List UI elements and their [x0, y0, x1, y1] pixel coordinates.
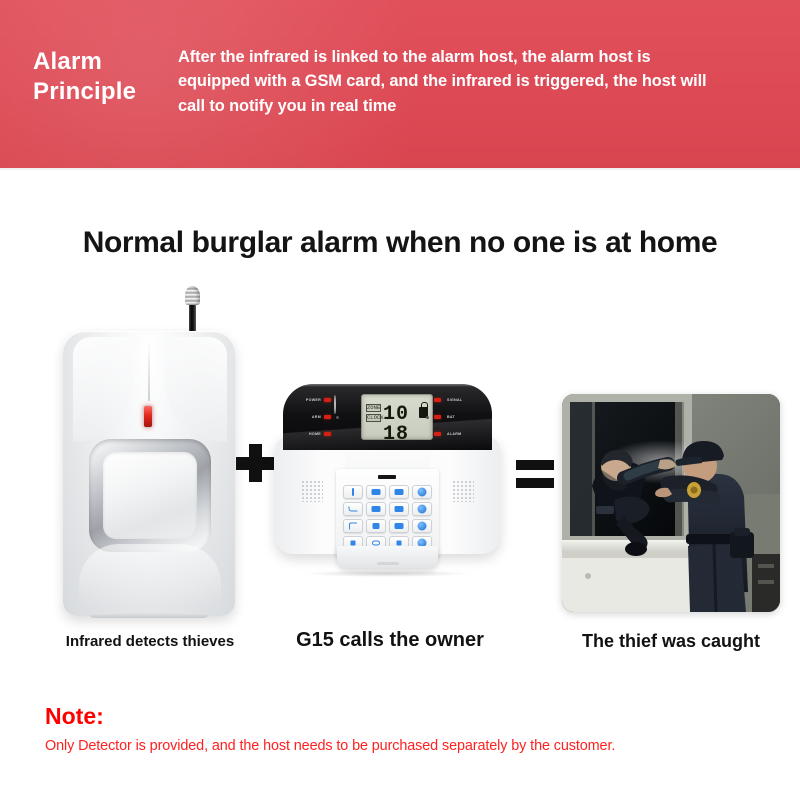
detector-crease [148, 339, 150, 401]
keypad-key[interactable] [366, 502, 386, 516]
note-title: Note: [45, 703, 104, 730]
detector-highlight-left [73, 337, 133, 442]
detector-foot [89, 613, 209, 618]
keypad-key[interactable] [389, 485, 409, 499]
banner-title: Alarm Principle [33, 47, 173, 107]
keypad-key[interactable] [389, 502, 409, 516]
keypad-key[interactable] [343, 485, 363, 499]
lcd-display: ZONE CLOCK 10 18 [361, 394, 433, 440]
keypad-key[interactable] [389, 519, 409, 533]
padlock-icon [334, 413, 341, 422]
keypad-key[interactable] [412, 519, 432, 533]
speaker-grille-right-icon [452, 480, 474, 502]
indicator-led [434, 432, 441, 435]
banner-divider [0, 168, 800, 170]
equals-bottom-bar [516, 478, 554, 488]
indicator-label: ARM [297, 415, 321, 419]
page-title: Normal burglar alarm when no one is at h… [0, 226, 800, 260]
indicator-home: HOME [297, 427, 355, 441]
indicator-label: HOME [297, 432, 321, 436]
plus-vertical-bar [249, 444, 262, 482]
caption-infrared-detects-thieves: Infrared detects thieves [25, 633, 275, 650]
indicator-label: POWER [297, 398, 321, 402]
detector-led-icon [143, 405, 153, 428]
house-icon [334, 430, 341, 439]
host-base [337, 546, 438, 568]
lcd-mini-label: CLOCK [366, 414, 381, 422]
indicator-label: BAT [447, 415, 455, 419]
lcd-mini-labels: ZONE CLOCK [366, 404, 381, 424]
indicator-alarm: ALARM [424, 427, 480, 441]
indicator-led [324, 398, 331, 401]
power-circle-icon [334, 396, 341, 405]
indicator-led [434, 415, 441, 418]
banner-description: After the infrared is linked to the alar… [178, 45, 718, 118]
host-top-panel: POWER ARM HOME ZONE CLOCK [283, 384, 492, 450]
detector-fresnel-lens [103, 452, 197, 539]
alarm-host-illustration: POWER ARM HOME ZONE CLOCK [275, 384, 500, 584]
signal-bar-icon [424, 396, 431, 405]
keypad-key[interactable] [412, 502, 432, 516]
keypad-grid[interactable] [343, 485, 432, 550]
keypad-key[interactable] [412, 485, 432, 499]
equals-top-bar [516, 460, 554, 470]
indicator-column-right: SIGNAL BAT ALARM [424, 393, 480, 444]
security-guard-photo-icon [562, 394, 780, 612]
detector-lower-sheen [79, 544, 221, 606]
bell-icon [424, 430, 431, 439]
keypad-panel[interactable] [336, 469, 439, 557]
host-top-edge [283, 384, 492, 387]
speaker-grille-left-icon [301, 480, 323, 502]
indicator-power: POWER [297, 393, 355, 407]
keypad-key[interactable] [366, 485, 386, 499]
detector-body [63, 331, 235, 616]
indicator-led [434, 398, 441, 401]
indicator-arm: ARM [297, 410, 355, 424]
antenna-tip-icon [185, 286, 200, 305]
detector-highlight-right [165, 337, 227, 442]
host-body [275, 436, 500, 554]
indicator-battery: BAT [424, 410, 480, 424]
host-base-notch [377, 562, 399, 565]
thief-caught-photo [562, 394, 780, 612]
detector-lens-bezel [89, 439, 211, 552]
plus-operator-icon [236, 444, 274, 482]
caption-g15-calls-the-owner: G15 calls the owner [285, 629, 495, 652]
infrared-detector-illustration [55, 286, 240, 616]
alarm-principle-banner: Alarm Principle After the infrared is li… [0, 0, 800, 168]
indicator-label: ALARM [447, 432, 461, 436]
keypad-key[interactable] [343, 519, 363, 533]
indicator-column-left: POWER ARM HOME [297, 393, 355, 444]
keypad-slot-icon [378, 475, 396, 479]
equals-operator-icon [516, 460, 554, 488]
indicator-led [324, 415, 331, 418]
indicator-led [324, 432, 331, 435]
battery-icon [424, 413, 431, 422]
keypad-key[interactable] [366, 519, 386, 533]
lcd-mini-label: ZONE [366, 404, 381, 412]
note-text: Only Detector is provided, and the host … [45, 738, 765, 754]
keypad-key[interactable] [343, 502, 363, 516]
indicator-label: SIGNAL [447, 398, 462, 402]
host-drop-shadow [303, 570, 471, 577]
indicator-signal: SIGNAL [424, 393, 480, 407]
caption-the-thief-was-caught: The thief was caught [555, 631, 787, 652]
